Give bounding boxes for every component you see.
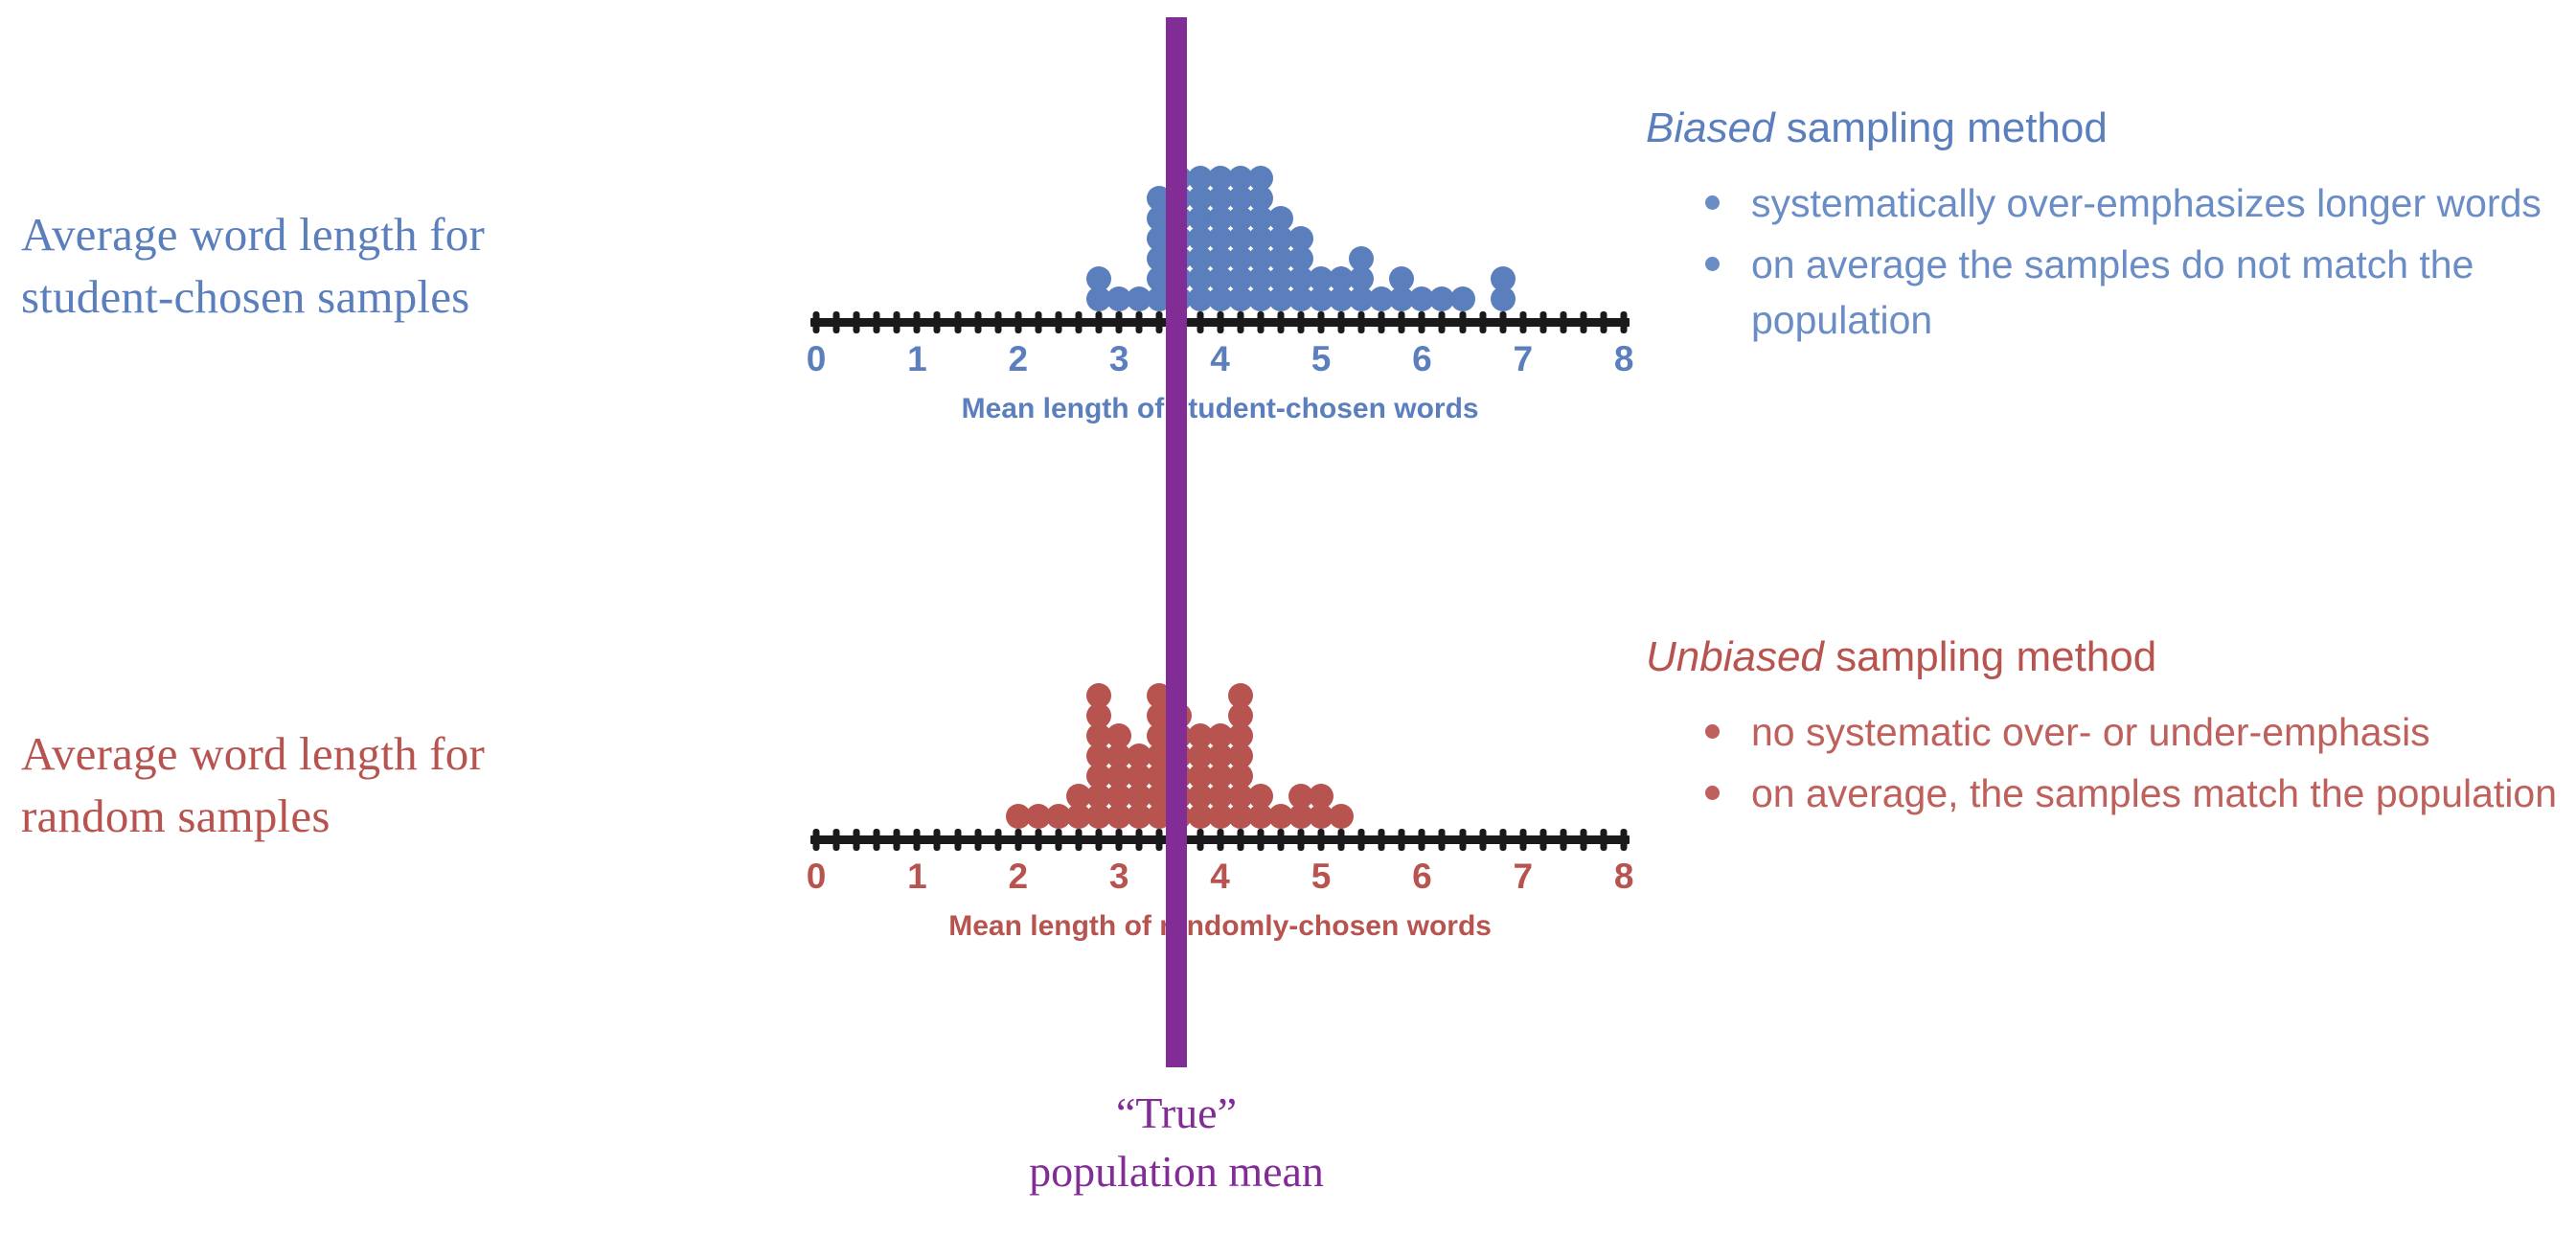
axis-tick [914, 311, 921, 333]
axis-tick [833, 829, 840, 851]
data-dot [1389, 266, 1414, 291]
axis-tick-label: 6 [1412, 857, 1432, 897]
student-chosen-plot-area: 012345678Mean length of student-chosen w… [0, 57, 1648, 345]
axis-tick [1399, 829, 1405, 851]
axis-tick-label: 8 [1614, 857, 1634, 897]
axis-tick [1217, 311, 1223, 333]
data-dot [1248, 784, 1273, 809]
axis-tick [1197, 829, 1203, 851]
randomly-chosen-plot-area: 012345678Mean length of randomly-chosen … [0, 575, 1648, 862]
axis-tick [934, 829, 941, 851]
axis-tick [1459, 829, 1466, 851]
axis-tick [1096, 829, 1103, 851]
axis-tick-label: 2 [1009, 339, 1029, 379]
axis-tick [1014, 829, 1021, 851]
axis-tick [1419, 311, 1425, 333]
axis-tick-label: 8 [1614, 339, 1634, 379]
unbiased-bullet-list: no systematic over- or under-emphasis on… [1646, 704, 2565, 821]
axis-tick [813, 829, 820, 851]
axis-tick [1055, 829, 1061, 851]
data-dot [1450, 286, 1475, 311]
bullet-text: on average, the samples match the popula… [1751, 771, 2557, 815]
biased-method-title: Biased sampling method [1646, 103, 2565, 154]
axis-tick [1459, 311, 1466, 333]
axis-tick [874, 311, 880, 333]
bullet-dot-icon [1705, 195, 1720, 210]
axis-tick [1136, 829, 1143, 851]
axis-caption: Mean length of student-chosen words [962, 393, 1479, 425]
student-chosen-dotplot: 012345678Mean length of student-chosen w… [0, 57, 1648, 422]
axis-tick [1581, 829, 1587, 851]
list-item: no systematic over- or under-emphasis [1646, 704, 2565, 760]
axis-tick [1035, 311, 1041, 333]
axis-tick [1096, 311, 1103, 333]
data-dot [1329, 804, 1354, 829]
axis-tick [994, 311, 1001, 333]
axis-tick [1116, 311, 1123, 333]
axis-tick [1277, 311, 1284, 333]
biased-title-rest: sampling method [1775, 104, 2108, 151]
axis-tick [1439, 311, 1446, 333]
axis-tick [1519, 829, 1526, 851]
axis-tick [1621, 829, 1628, 851]
axis-tick [1297, 311, 1304, 333]
axis-tick [954, 311, 961, 333]
list-item: on average the samples do not match the … [1646, 237, 2565, 348]
axis-tick [1379, 829, 1385, 851]
axis-tick [914, 829, 921, 851]
data-dot [1309, 784, 1334, 809]
bullet-dot-icon [1705, 257, 1720, 271]
data-dot [1228, 683, 1253, 708]
true-population-mean-line [1166, 17, 1187, 1067]
axis-tick [954, 829, 961, 851]
axis-tick [1156, 311, 1163, 333]
axis-tick [1014, 311, 1021, 333]
unbiased-title-rest: sampling method [1824, 633, 2156, 680]
mean-caption-line-2: population mean [1029, 1143, 1324, 1201]
axis-tick [1581, 311, 1587, 333]
axis-tick-label: 5 [1311, 857, 1332, 897]
data-dot [1248, 166, 1273, 191]
axis-tick [1358, 311, 1365, 333]
axis-tick [1338, 829, 1345, 851]
bullet-text: on average the samples do not match the … [1751, 242, 2473, 342]
unbiased-method-title: Unbiased sampling method [1646, 632, 2565, 683]
biased-method-notes: Biased sampling method systematically ov… [1646, 103, 2565, 354]
axis-tick [1338, 311, 1345, 333]
axis-tick [874, 829, 880, 851]
bullet-text: systematically over-emphasizes longer wo… [1751, 181, 2542, 225]
axis-tick-label: 0 [807, 339, 827, 379]
axis-tick [1399, 311, 1405, 333]
axis-tick [934, 311, 941, 333]
axis-tick [1035, 829, 1041, 851]
axis-tick [1601, 829, 1607, 851]
axis-tick [1055, 311, 1061, 333]
axis-tick [1076, 311, 1083, 333]
true-population-mean-caption: “True” population mean [1029, 1085, 1324, 1201]
axis-tick [994, 829, 1001, 851]
bullet-dot-icon [1705, 786, 1720, 800]
axis-tick-label: 0 [807, 857, 827, 897]
axis-tick [1257, 829, 1264, 851]
axis-tick [854, 829, 860, 851]
axis-tick [1197, 311, 1203, 333]
axis-tick [1156, 829, 1163, 851]
axis-tick [1318, 311, 1325, 333]
axis-tick [1539, 829, 1546, 851]
axis-tick [1379, 311, 1385, 333]
biased-bullet-list: systematically over-emphasizes longer wo… [1646, 175, 2565, 349]
axis-tick [1237, 829, 1243, 851]
axis-tick-label: 3 [1109, 857, 1129, 897]
data-dot [1086, 266, 1111, 291]
data-dot [1288, 226, 1313, 251]
axis-tick [854, 311, 860, 333]
axis-tick-label: 4 [1210, 339, 1230, 379]
slide-canvas: Average word length for student-chosen s… [0, 0, 2576, 1235]
axis-tick [1621, 311, 1628, 333]
axis-tick [813, 311, 820, 333]
axis-tick [1479, 311, 1486, 333]
axis-tick [1297, 829, 1304, 851]
axis-tick [1499, 311, 1506, 333]
unbiased-method-notes: Unbiased sampling method no systematic o… [1646, 632, 2565, 827]
axis-tick [1560, 311, 1566, 333]
unbiased-emphasis: Unbiased [1646, 633, 1824, 680]
axis-tick [1076, 829, 1083, 851]
list-item: systematically over-emphasizes longer wo… [1646, 175, 2565, 231]
axis-tick [1479, 829, 1486, 851]
axis-tick [1439, 829, 1446, 851]
bullet-dot-icon [1705, 724, 1720, 739]
data-dot [1086, 683, 1111, 708]
axis-tick [894, 311, 900, 333]
axis-tick [1358, 829, 1365, 851]
axis-tick [1519, 311, 1526, 333]
mean-caption-line-1: “True” [1029, 1085, 1324, 1143]
axis-tick [1116, 829, 1123, 851]
data-dot [1268, 206, 1293, 231]
axis-tick [974, 829, 981, 851]
axis-tick [1237, 311, 1243, 333]
axis-tick-label: 3 [1109, 339, 1129, 379]
axis-tick [1217, 829, 1223, 851]
axis-tick [1560, 829, 1566, 851]
axis-tick-label: 4 [1210, 857, 1230, 897]
axis-tick [1318, 829, 1325, 851]
biased-emphasis: Biased [1646, 104, 1775, 151]
axis-tick [1136, 311, 1143, 333]
axis-tick-label: 6 [1412, 339, 1432, 379]
axis-tick-label: 2 [1009, 857, 1029, 897]
data-dot [1349, 246, 1374, 271]
axis-tick-label: 7 [1514, 857, 1534, 897]
axis-tick-label: 1 [907, 857, 927, 897]
axis-tick [1419, 829, 1425, 851]
axis-tick-label: 1 [907, 339, 927, 379]
axis-tick [974, 311, 981, 333]
list-item: on average, the samples match the popula… [1646, 766, 2565, 821]
axis-tick [1499, 829, 1506, 851]
axis-tick [833, 311, 840, 333]
axis-tick-label: 7 [1514, 339, 1534, 379]
axis-caption: Mean length of randomly-chosen words [948, 910, 1492, 943]
bullet-text: no systematic over- or under-emphasis [1751, 710, 2430, 754]
axis-tick [1277, 829, 1284, 851]
axis-tick [1601, 311, 1607, 333]
axis-tick-label: 5 [1311, 339, 1332, 379]
randomly-chosen-dotplot: 012345678Mean length of randomly-chosen … [0, 575, 1648, 939]
data-dot [1106, 723, 1131, 748]
data-dot [1491, 266, 1516, 291]
axis-tick [1539, 311, 1546, 333]
axis-tick [894, 829, 900, 851]
axis-tick [1257, 311, 1264, 333]
